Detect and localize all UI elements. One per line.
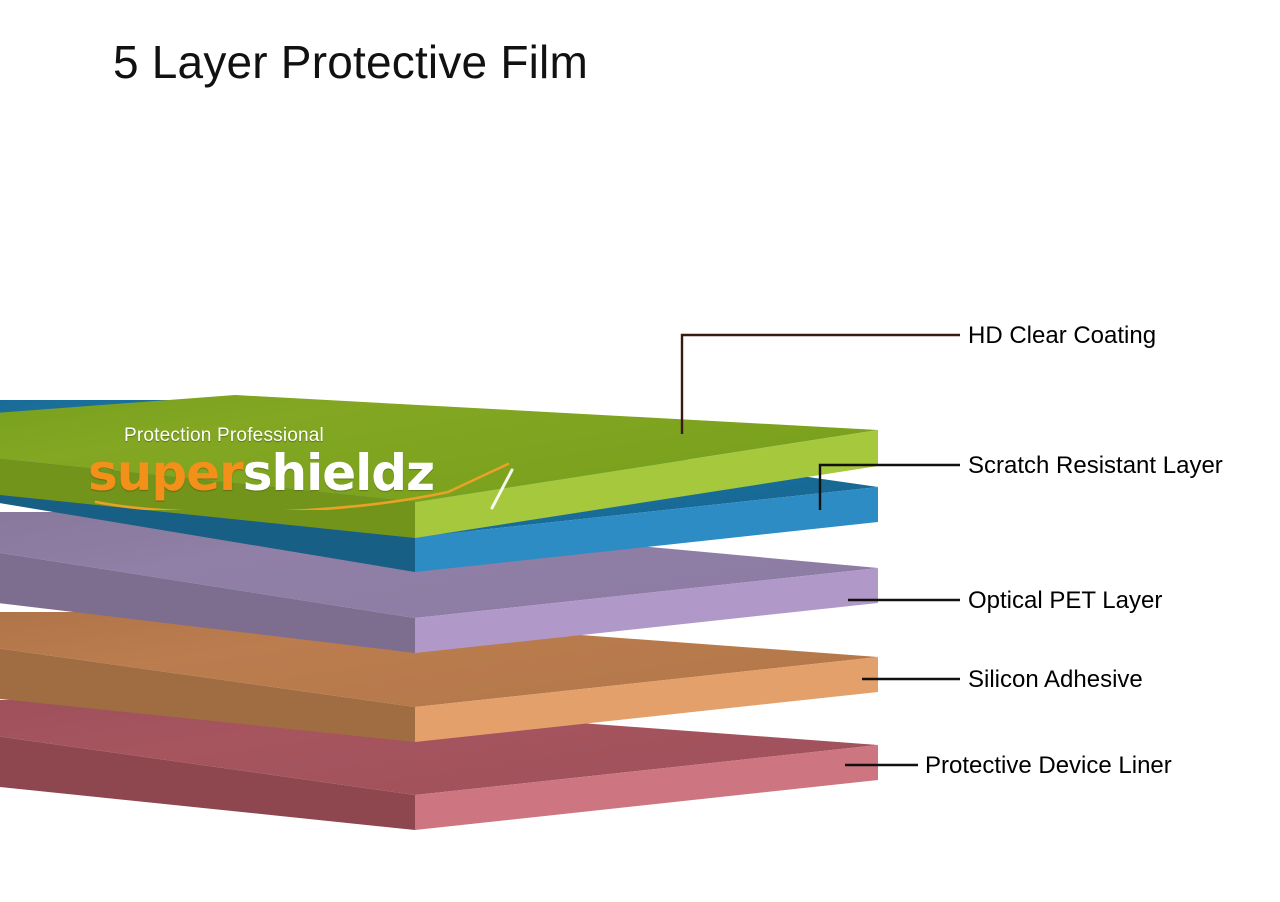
layer-label-optical-pet-layer: Optical PET Layer <box>968 587 1162 615</box>
layer-label-silicon-adhesive: Silicon Adhesive <box>968 666 1143 694</box>
diagram-canvas: 5 Layer Protective Film <box>0 0 1280 902</box>
layer-label-hd-clear-coating: HD Clear Coating <box>968 322 1156 350</box>
layer-label-scratch-resistant-layer: Scratch Resistant Layer <box>968 452 1223 480</box>
layer-label-protective-device-liner: Protective Device Liner <box>925 752 1172 780</box>
leader-line-hd-clear-coating <box>682 335 960 434</box>
